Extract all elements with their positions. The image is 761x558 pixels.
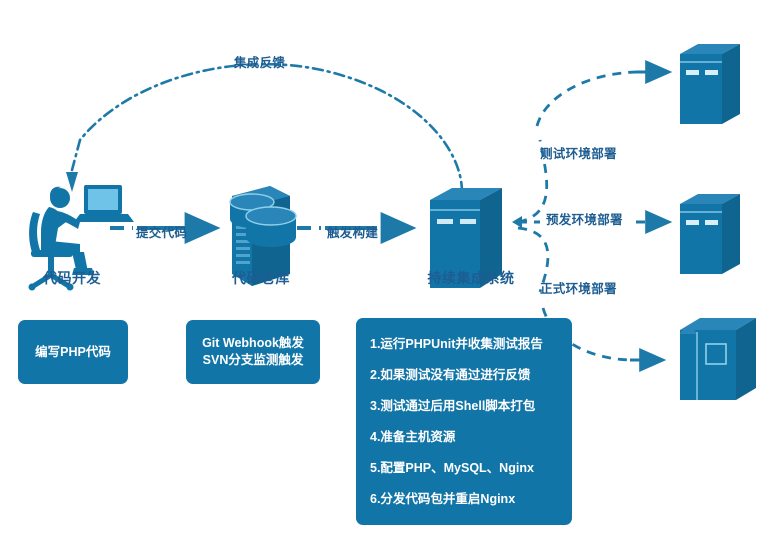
steps-box-line-2: 2.如果测试没有通过进行反馈 [370,367,572,384]
production-server-icon [680,318,756,400]
steps-box-line-1: 1.运行PHPUnit并收集测试报告 [370,336,572,353]
steps-box-line-6: 6.分发代码包并重启Nginx [370,491,572,508]
node-label-ci-system: 持续集成系统 [408,268,534,288]
steps-box-line-3: 3.测试通过后用Shell脚本打包 [370,398,572,415]
trigger-box-line-2: SVN分支监测触发 [203,352,304,369]
diagram-canvas: 代码开发 代码仓库 持续集成系统 提交代码 触发构建 集成反馈 测试环境部署 预… [0,0,761,558]
steps-box-line-4: 4.准备主机资源 [370,429,572,446]
edge-label-deploy-test: 测试环境部署 [540,143,617,162]
node-label-repository: 代码仓库 [213,268,309,288]
test-server-icon [680,44,740,124]
steps-box: 1.运行PHPUnit并收集测试报告 2.如果测试没有通过进行反馈 3.测试通过… [356,318,572,525]
develop-box: 编写PHP代码 [18,320,128,384]
trigger-box: Git Webhook触发 SVN分支监测触发 [186,320,320,384]
edge-label-integration-feedback: 集成反馈 [234,52,285,71]
trigger-box-line-1: Git Webhook触发 [202,335,304,352]
node-label-developer: 代码开发 [24,268,120,288]
steps-box-line-5: 5.配置PHP、MySQL、Nginx [370,460,572,477]
develop-box-line-1: 编写PHP代码 [35,344,111,361]
edge-label-trigger-build: 触发构建 [327,222,378,241]
staging-server-icon [680,194,740,274]
edge-label-deploy-staging: 预发环境部署 [546,209,623,228]
edge-label-deploy-production: 正式环境部署 [540,278,617,297]
edge-label-submit-code: 提交代码 [136,222,187,241]
